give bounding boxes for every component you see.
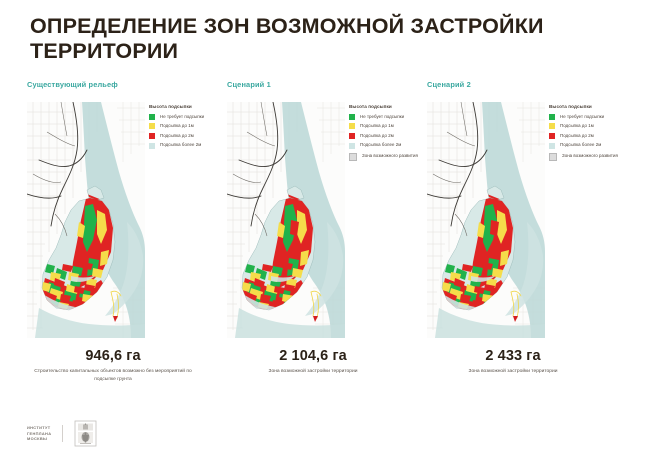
- legend-item: Подсыпка до 1м: [549, 123, 633, 129]
- panel-scenario-2: Сценарий 2: [427, 80, 632, 400]
- caption-note: Зона возможной застройки территории: [213, 368, 413, 376]
- legend: Высота подсыпки Не требует подсыпки Подс…: [549, 104, 633, 164]
- legend-swatch-yellow: [349, 123, 355, 129]
- legend-swatch-cyan: [349, 143, 355, 149]
- caption-value: 946,6 га: [13, 348, 213, 364]
- legend-item: Подсыпка до 1м: [349, 123, 433, 129]
- legend-label: Зона возможного развития: [362, 153, 418, 159]
- legend-title: Высота подсыпки: [149, 104, 233, 109]
- map-scenario-2[interactable]: [427, 102, 545, 338]
- legend-item: Подсыпка до 2м: [549, 133, 633, 139]
- panels-row: Существующий рельеф: [0, 80, 650, 400]
- caption-value: 2 433 га: [413, 348, 613, 364]
- legend-label: Подсыпка более 2м: [360, 142, 401, 148]
- legend-label: Подсыпка до 2м: [360, 133, 394, 139]
- map-scenario-1[interactable]: [227, 102, 345, 338]
- legend-label: Зона возможного развития: [562, 153, 618, 159]
- legend-swatch-green: [149, 114, 155, 120]
- panel-existing-relief: Существующий рельеф: [27, 80, 232, 400]
- legend: Высота подсыпки Не требует подсыпки Подс…: [349, 104, 433, 164]
- map-graphic: [227, 102, 345, 338]
- legend: Высота подсыпки Не требует подсыпки Подс…: [149, 104, 233, 152]
- legend-swatch-red: [349, 133, 355, 139]
- panel-title: Существующий рельеф: [27, 80, 118, 89]
- institute-wordmark: Институт Генплана Москвы: [27, 425, 51, 442]
- caption-note: Строительство капитальных объектов возмо…: [13, 368, 213, 383]
- panel-scenario-1: Сценарий 1: [227, 80, 432, 400]
- legend-item: Подсыпка до 2м: [349, 133, 433, 139]
- legend-item: Подсыпка до 2м: [149, 133, 233, 139]
- map-graphic: [27, 102, 145, 338]
- footer: Институт Генплана Москвы: [27, 420, 97, 447]
- legend-item: Подсыпка более 2м: [149, 142, 233, 148]
- legend-label: Подсыпка до 2м: [160, 133, 194, 139]
- legend-label: Не требует подсыпки: [160, 114, 204, 120]
- panel-caption: 2 433 га Зона возможной застройки террит…: [413, 348, 613, 376]
- page-title: ОПРЕДЕЛЕНИЕ ЗОН ВОЗМОЖНОЙ ЗАСТРОЙКИ ТЕРР…: [30, 14, 620, 65]
- panel-title: Сценарий 1: [227, 80, 271, 89]
- panel-caption: 2 104,6 га Зона возможной застройки терр…: [213, 348, 413, 376]
- legend-item: Не требует подсыпки: [149, 114, 233, 120]
- legend-swatch-gray: [349, 153, 357, 161]
- panel-caption: 946,6 га Строительство капитальных объек…: [13, 348, 213, 383]
- caption-note: Зона возможной застройки территории: [413, 368, 613, 376]
- legend-label: Подсыпка более 2м: [560, 142, 601, 148]
- legend-title: Высота подсыпки: [549, 104, 633, 109]
- legend-swatch-gray: [549, 153, 557, 161]
- footer-divider: [62, 425, 63, 442]
- legend-item: Подсыпка более 2м: [349, 142, 433, 148]
- legend-item: Зона возможного развития: [349, 153, 433, 161]
- legend-item: Не требует подсыпки: [349, 114, 433, 120]
- legend-swatch-red: [549, 133, 555, 139]
- legend-label: Подсыпка до 1м: [560, 123, 594, 129]
- legend-label: Не требует подсыпки: [560, 114, 604, 120]
- legend-label: Подсыпка до 2м: [560, 133, 594, 139]
- legend-swatch-green: [549, 114, 555, 120]
- panel-title: Сценарий 2: [427, 80, 471, 89]
- legend-label: Подсыпка более 2м: [160, 142, 201, 148]
- map-graphic: [427, 102, 545, 338]
- caption-value: 2 104,6 га: [213, 348, 413, 364]
- legend-label: Не требует подсыпки: [360, 114, 404, 120]
- legend-title: Высота подсыпки: [349, 104, 433, 109]
- legend-swatch-cyan: [549, 143, 555, 149]
- legend-label: Подсыпка до 1м: [360, 123, 394, 129]
- legend-swatch-red: [149, 133, 155, 139]
- legend-label: Подсыпка до 1м: [160, 123, 194, 129]
- legend-swatch-yellow: [549, 123, 555, 129]
- legend-swatch-yellow: [149, 123, 155, 129]
- legend-swatch-green: [349, 114, 355, 120]
- map-existing-relief[interactable]: [27, 102, 145, 338]
- legend-swatch-cyan: [149, 143, 155, 149]
- moscow-coat-of-arms-icon: [74, 420, 97, 447]
- legend-item: Подсыпка более 2м: [549, 142, 633, 148]
- legend-item: Подсыпка до 1м: [149, 123, 233, 129]
- legend-item: Не требует подсыпки: [549, 114, 633, 120]
- legend-item: Зона возможного развития: [549, 153, 633, 161]
